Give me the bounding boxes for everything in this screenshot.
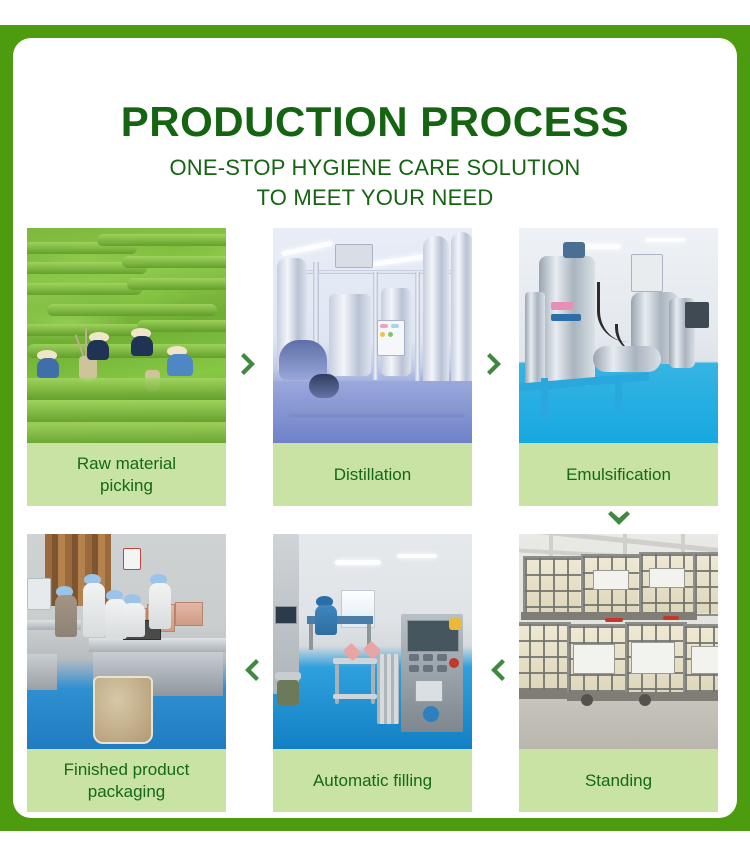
page-title: PRODUCTION PROCESS	[0, 98, 750, 146]
subtitle-line-2: TO MEET YOUR NEED	[0, 183, 750, 213]
step-card-finished-product-packaging[interactable]: Finished product packaging	[27, 534, 226, 812]
step-label-automatic-filling: Automatic filling	[273, 749, 472, 812]
subtitle-line-1: ONE-STOP HYGIENE CARE SOLUTION	[0, 153, 750, 183]
production-process-infographic: PRODUCTION PROCESS ONE-STOP HYGIENE CARE…	[0, 0, 750, 846]
packaging-workers-photo	[27, 534, 226, 749]
step-card-standing[interactable]: Standing	[519, 534, 718, 812]
step-card-distillation[interactable]: Distillation	[273, 228, 472, 506]
process-steps-grid: Raw material picking	[27, 228, 718, 812]
step-label-text: Automatic filling	[313, 770, 432, 791]
step-card-raw-material-picking[interactable]: Raw material picking	[27, 228, 226, 506]
chevron-left-icon	[473, 652, 519, 688]
chevron-right-icon	[227, 346, 273, 382]
distillation-equipment-photo	[273, 228, 472, 443]
step-label-distillation: Distillation	[273, 443, 472, 506]
step-label-line-1: Raw material	[77, 454, 176, 473]
chevron-left-icon	[227, 652, 273, 688]
infographic-content: PRODUCTION PROCESS ONE-STOP HYGIENE CARE…	[0, 0, 750, 846]
header: PRODUCTION PROCESS ONE-STOP HYGIENE CARE…	[0, 98, 750, 213]
step-card-emulsification[interactable]: Emulsification	[519, 228, 718, 506]
step-label-text: Distillation	[334, 464, 411, 485]
step-label-emulsification: Emulsification	[519, 443, 718, 506]
process-row-2: Finished product packaging	[27, 534, 718, 812]
step-label-text: Emulsification	[566, 464, 671, 485]
emulsification-tanks-photo	[519, 228, 718, 443]
chevron-down-icon	[519, 506, 718, 534]
tea-plantation-harvest-photo	[27, 228, 226, 443]
subtitle: ONE-STOP HYGIENE CARE SOLUTION TO MEET Y…	[0, 153, 750, 213]
step-label-line-2: picking	[100, 476, 153, 495]
step-label-line-2: packaging	[88, 782, 166, 801]
ibc-totes-storage-photo	[519, 534, 718, 749]
step-label-standing: Standing	[519, 749, 718, 812]
process-row-1: Raw material picking	[27, 228, 718, 506]
automatic-filling-line-photo	[273, 534, 472, 749]
step-card-automatic-filling[interactable]: Automatic filling	[273, 534, 472, 812]
chevron-right-icon	[473, 346, 519, 382]
step-label-line-1: Finished product	[64, 760, 190, 779]
step-label-raw-material-picking: Raw material picking	[27, 443, 226, 506]
step-label-finished-product-packaging: Finished product packaging	[27, 749, 226, 812]
step-label-text: Standing	[585, 770, 652, 791]
